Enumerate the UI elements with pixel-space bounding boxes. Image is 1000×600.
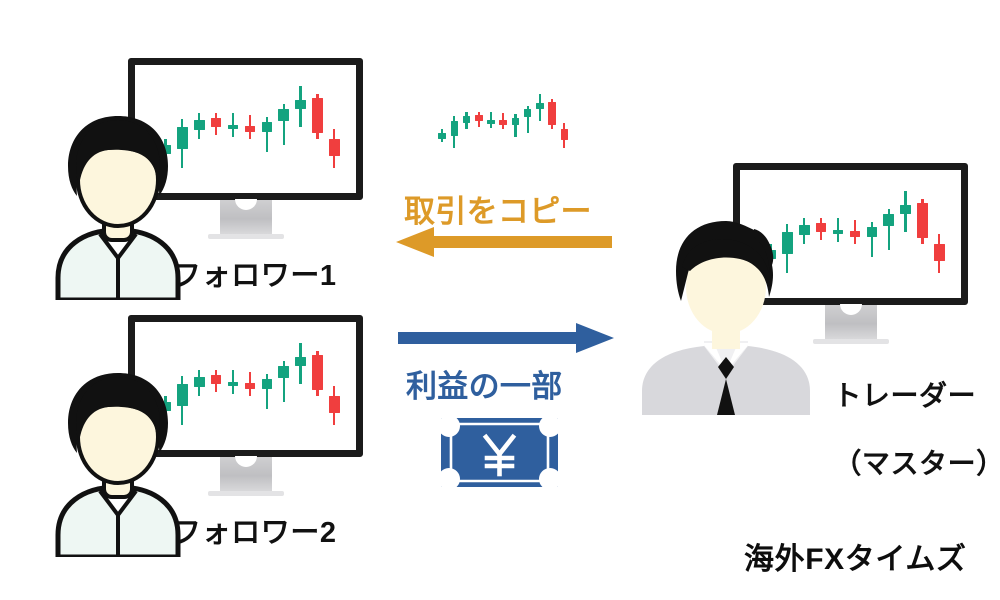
candle-body bbox=[934, 244, 944, 260]
candle-1 bbox=[438, 80, 446, 165]
candle-body bbox=[499, 120, 507, 124]
master-trader-avatar bbox=[636, 215, 816, 415]
candle-3 bbox=[194, 65, 204, 193]
copy-trades-arrow bbox=[394, 226, 614, 258]
candle-body bbox=[329, 139, 339, 155]
candle-body bbox=[487, 120, 495, 124]
candle-body bbox=[312, 98, 322, 133]
candle-9 bbox=[536, 80, 544, 165]
candle-8 bbox=[883, 170, 893, 298]
candle-body bbox=[194, 120, 204, 130]
candle-6 bbox=[499, 80, 507, 165]
candle-7 bbox=[262, 322, 272, 450]
monitor-foot bbox=[813, 339, 889, 344]
site-watermark: 海外FXタイムズ bbox=[744, 534, 967, 578]
candle-9 bbox=[900, 170, 910, 298]
candle-4 bbox=[816, 170, 826, 298]
candle-body bbox=[917, 203, 927, 238]
candle-body bbox=[463, 116, 471, 123]
monitor-neck bbox=[220, 200, 272, 234]
candle-9 bbox=[295, 65, 305, 193]
candle-6 bbox=[850, 170, 860, 298]
candle-body bbox=[278, 109, 288, 121]
candle-body bbox=[228, 125, 238, 129]
follower-1-avatar bbox=[48, 108, 188, 300]
candle-10 bbox=[917, 170, 927, 298]
candle-11 bbox=[329, 322, 339, 450]
candle-6 bbox=[245, 65, 255, 193]
profit-share-arrow bbox=[396, 322, 616, 354]
candle-body bbox=[245, 383, 255, 389]
candle-11 bbox=[934, 170, 944, 298]
candle-9 bbox=[295, 322, 305, 450]
candle-8 bbox=[278, 65, 288, 193]
candle-4 bbox=[475, 80, 483, 165]
monitor-foot bbox=[208, 234, 284, 239]
master-trader-label-line1: トレーダー bbox=[833, 380, 976, 411]
candle-7 bbox=[262, 65, 272, 193]
candle-body bbox=[833, 230, 843, 234]
candle-body bbox=[900, 205, 910, 213]
monitor-neck bbox=[220, 457, 272, 491]
candle-3 bbox=[194, 322, 204, 450]
follower-2-avatar bbox=[48, 365, 188, 557]
candle-body bbox=[536, 103, 544, 108]
candle-body bbox=[262, 379, 272, 389]
candle-body bbox=[194, 377, 204, 387]
candle-10 bbox=[548, 80, 556, 165]
candle-body bbox=[561, 129, 569, 140]
candle-body bbox=[278, 366, 288, 378]
copy-trades-label: 取引をコピー bbox=[404, 186, 592, 231]
candle-body bbox=[295, 357, 305, 365]
candle-8 bbox=[524, 80, 532, 165]
candle-body bbox=[524, 109, 532, 117]
candle-body bbox=[867, 227, 877, 237]
candle-10 bbox=[312, 322, 322, 450]
candle-10 bbox=[312, 65, 322, 193]
candle-body bbox=[329, 396, 339, 412]
candle-5 bbox=[228, 65, 238, 193]
candle-4 bbox=[211, 65, 221, 193]
candle-body bbox=[850, 231, 860, 237]
candle-body bbox=[883, 214, 893, 226]
candle-body bbox=[475, 115, 483, 121]
candle-body bbox=[451, 121, 459, 136]
monitor-neck bbox=[825, 305, 877, 339]
master-trader-label: トレーダー （マスター） bbox=[800, 345, 1000, 516]
diagram-canvas: フォロワー1 フォロワー2 bbox=[0, 0, 1000, 600]
candle-5 bbox=[487, 80, 495, 165]
follower-1-label: フォロワー1 bbox=[172, 259, 337, 294]
yen-banknote-icon bbox=[441, 418, 558, 487]
candle-body bbox=[548, 102, 556, 125]
candle-body bbox=[211, 118, 221, 127]
candle-body bbox=[228, 382, 238, 386]
monitor-foot bbox=[208, 491, 284, 496]
candle-5 bbox=[228, 322, 238, 450]
candle-5 bbox=[833, 170, 843, 298]
candle-body bbox=[816, 223, 826, 232]
candle-body bbox=[438, 133, 446, 138]
candle-3 bbox=[463, 80, 471, 165]
candle-body bbox=[262, 122, 272, 132]
candle-7 bbox=[867, 170, 877, 298]
candle-2 bbox=[451, 80, 459, 165]
master-trader-label-line2: （マスター） bbox=[833, 448, 1000, 479]
candle-11 bbox=[561, 80, 569, 165]
candle-body bbox=[245, 126, 255, 132]
candle-6 bbox=[245, 322, 255, 450]
candle-body bbox=[512, 118, 520, 125]
floating-candlestick-chart bbox=[420, 80, 580, 165]
candle-body bbox=[295, 100, 305, 108]
follower-2-label: フォロワー2 bbox=[172, 516, 337, 551]
candle-body bbox=[211, 375, 221, 384]
profit-share-label: 利益の一部 bbox=[406, 361, 563, 406]
candle-4 bbox=[211, 322, 221, 450]
candle-11 bbox=[329, 65, 339, 193]
transferred-trade-chart bbox=[420, 80, 580, 165]
candle-body bbox=[312, 355, 322, 390]
candle-7 bbox=[512, 80, 520, 165]
candle-8 bbox=[278, 322, 288, 450]
